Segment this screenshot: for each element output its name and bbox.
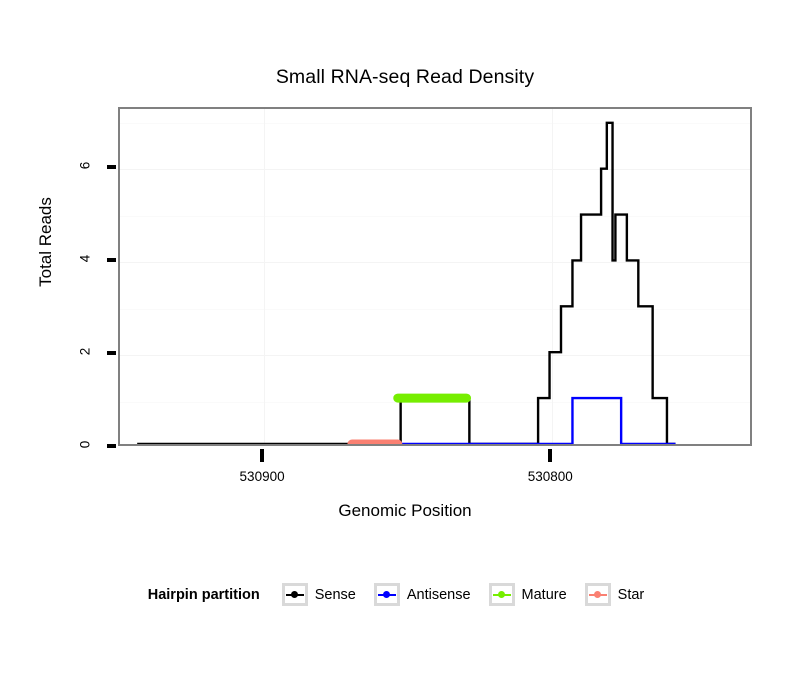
plot-panel [118, 107, 752, 446]
legend-label: Antisense [407, 587, 471, 603]
legend-entry-star[interactable]: Star [585, 583, 655, 606]
legend-key-antisense [374, 583, 400, 606]
y-tick-mark [107, 165, 116, 169]
y-tick-label: 4 [78, 244, 93, 274]
legend-entry-antisense[interactable]: Antisense [374, 583, 481, 606]
y-tick-label: 6 [78, 151, 93, 181]
legend-key-dot-icon [594, 591, 601, 598]
y-tick-label: 0 [78, 430, 93, 460]
y-tick-mark [107, 258, 116, 262]
legend-label: Star [618, 587, 645, 603]
legend: Hairpin partition SenseAntisenseMatureSt… [0, 583, 810, 606]
y-axis-title: Total Reads [36, 152, 56, 332]
legend-key-star [585, 583, 611, 606]
legend-title: Hairpin partition [148, 587, 260, 603]
chart-title: Small RNA-seq Read Density [0, 66, 810, 89]
y-tick-label: 2 [78, 337, 93, 367]
legend-key-dot-icon [291, 591, 298, 598]
legend-key-dot-icon [498, 591, 505, 598]
legend-label: Sense [315, 587, 356, 603]
legend-entries: SenseAntisenseMatureStar [282, 583, 663, 606]
series-layer [120, 109, 750, 444]
x-tick-label: 530900 [202, 469, 322, 484]
x-tick-mark [260, 449, 264, 462]
legend-key-sense [282, 583, 308, 606]
legend-label: Mature [522, 587, 567, 603]
legend-entry-sense[interactable]: Sense [282, 583, 366, 606]
plot-area [120, 109, 750, 444]
x-tick-label: 530800 [490, 469, 610, 484]
y-tick-mark [107, 351, 116, 355]
y-tick-mark [107, 444, 116, 448]
x-tick-mark [548, 449, 552, 462]
x-axis-title: Genomic Position [0, 501, 810, 521]
legend-entry-mature[interactable]: Mature [489, 583, 577, 606]
chart-root: Small RNA-seq Read Density 0246 Total Re… [0, 0, 810, 690]
legend-key-mature [489, 583, 515, 606]
series-line-antisense [398, 398, 676, 444]
legend-key-dot-icon [383, 591, 390, 598]
